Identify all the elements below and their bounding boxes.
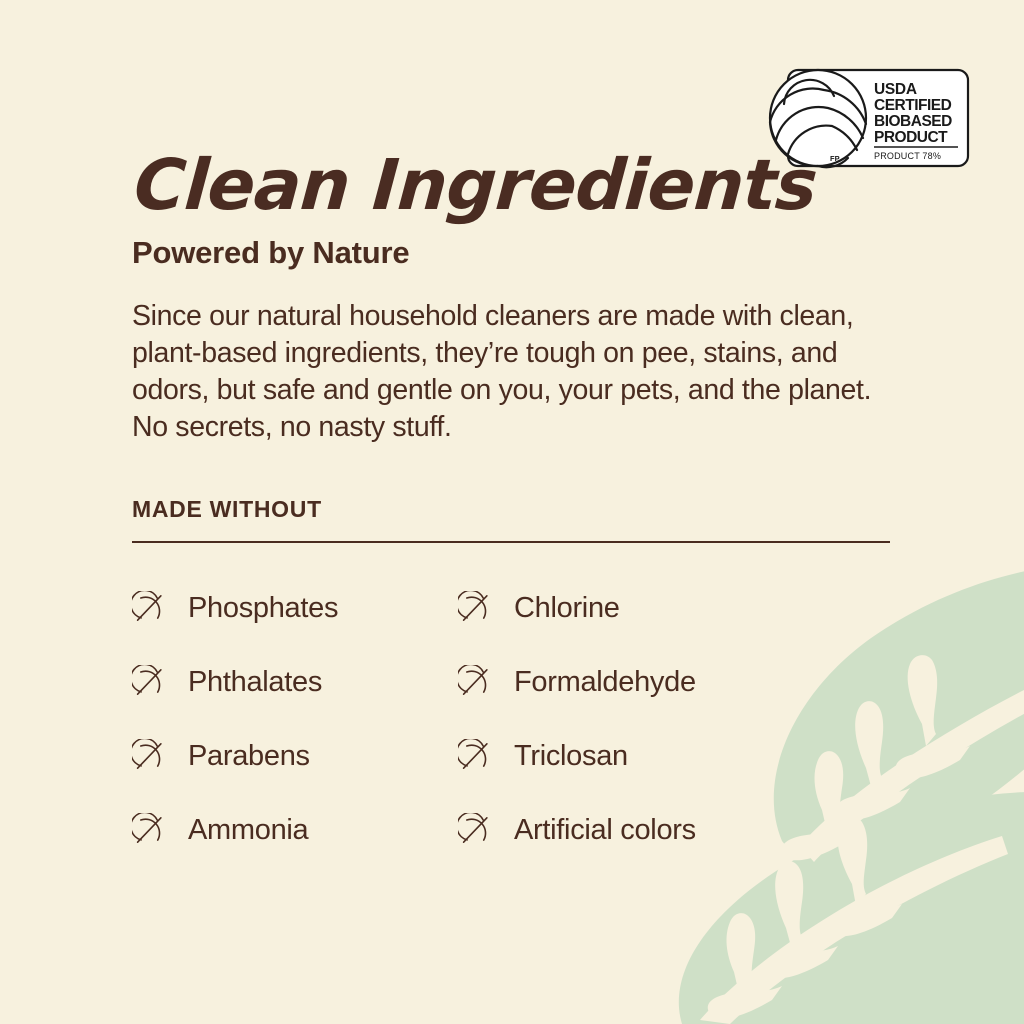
no-symbol-icon: [132, 591, 166, 625]
list-item: Parabens: [132, 719, 458, 793]
made-without-heading: MADE WITHOUT: [132, 446, 922, 523]
no-symbol-icon: [458, 591, 492, 625]
badge-line-4: PRODUCT: [874, 129, 948, 146]
list-item-label: Parabens: [188, 739, 310, 773]
clean-ingredients-infographic: FP USDA CERTIFIED BIOBASED PRODUCT PRODU…: [0, 0, 1024, 1024]
no-symbol-icon: [132, 665, 166, 699]
page-subtitle: Powered by Nature: [132, 222, 922, 272]
list-item: Chlorine: [458, 571, 902, 645]
badge-line-1: USDA: [874, 81, 917, 98]
list-item-label: Ammonia: [188, 813, 308, 847]
no-symbol-icon: [458, 813, 492, 847]
made-without-list: Phosphates Chlorine Phthalates: [132, 543, 902, 867]
list-item-label: Triclosan: [514, 739, 628, 773]
intro-paragraph: Since our natural household cleaners are…: [132, 272, 902, 446]
usda-biobased-badge: FP USDA CERTIFIED BIOBASED PRODUCT PRODU…: [762, 60, 970, 172]
badge-line-2: CERTIFIED: [874, 97, 952, 114]
list-item-label: Artificial colors: [514, 813, 696, 847]
list-item: Triclosan: [458, 719, 902, 793]
badge-logo-mark-label: FP: [830, 154, 840, 163]
badge-line-3: BIOBASED: [874, 113, 952, 130]
list-item: Phthalates: [132, 645, 458, 719]
list-item-label: Phosphates: [188, 591, 338, 625]
no-symbol-icon: [458, 739, 492, 773]
no-symbol-icon: [458, 665, 492, 699]
list-item-label: Phthalates: [188, 665, 322, 699]
list-item: Artificial colors: [458, 793, 902, 867]
list-item: Formaldehyde: [458, 645, 902, 719]
no-symbol-icon: [132, 739, 166, 773]
list-item-label: Chlorine: [514, 591, 620, 625]
list-item: Phosphates: [132, 571, 458, 645]
list-item-label: Formaldehyde: [514, 665, 696, 699]
list-item: Ammonia: [132, 793, 458, 867]
no-symbol-icon: [132, 813, 166, 847]
badge-footnote: PRODUCT 78%: [874, 151, 941, 161]
